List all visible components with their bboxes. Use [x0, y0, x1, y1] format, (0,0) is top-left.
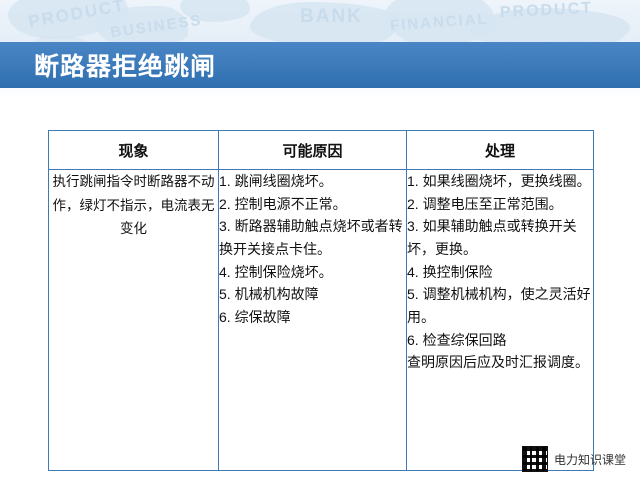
qr-code-icon — [522, 446, 548, 472]
watermark-text: BANK — [300, 6, 363, 28]
list-item: 3. 断路器辅助触点烧坏或者转换开关接点卡住。 — [219, 215, 406, 260]
list-item: 2. 调整电压至正常范围。 — [407, 193, 593, 216]
page-title: 断路器拒绝跳闸 — [34, 47, 216, 83]
table-header-phenomenon: 现象 — [49, 131, 219, 170]
table-row: 执行跳闸指令时断路器不动作，绿灯不指示，电流表无变化 1. 跳闸线圈烧坏。 2.… — [49, 170, 594, 471]
table-header-actions: 处理 — [407, 131, 594, 170]
list-item: 6. 检查综保回路 — [407, 329, 593, 352]
list-item: 查明原因后应及时汇报调度。 — [407, 351, 593, 374]
list-item: 4. 控制保险烧坏。 — [219, 261, 406, 284]
list-item: 6. 综保故障 — [219, 306, 406, 329]
title-bar: 断路器拒绝跳闸 — [0, 42, 640, 88]
footer: 电力知识课堂 — [522, 446, 626, 472]
fault-table: 现象 可能原因 处理 执行跳闸指令时断路器不动作，绿灯不指示，电流表无变化 1.… — [48, 130, 594, 471]
list-item: 3. 如果辅助触点或转换开关坏，更换。 — [407, 215, 593, 260]
cell-phenomenon: 执行跳闸指令时断路器不动作，绿灯不指示，电流表无变化 — [49, 170, 219, 471]
list-item: 5. 机械机构故障 — [219, 283, 406, 306]
list-item: 5. 调整机械机构，使之灵活好用。 — [407, 283, 593, 328]
footer-label: 电力知识课堂 — [554, 451, 626, 468]
list-item: 1. 跳闸线圈烧坏。 — [219, 170, 406, 193]
slide: PRODUCT BUSINESS BANK FINANCIAL PRODUCT … — [0, 0, 640, 480]
list-item: 1. 如果线圈烧坏，更换线圈。 — [407, 170, 593, 193]
list-item: 2. 控制电源不正常。 — [219, 193, 406, 216]
cell-actions: 1. 如果线圈烧坏，更换线圈。 2. 调整电压至正常范围。 3. 如果辅助触点或… — [407, 170, 594, 471]
list-item: 4. 换控制保险 — [407, 261, 593, 284]
table-header-row: 现象 可能原因 处理 — [49, 131, 594, 170]
table-header-causes: 可能原因 — [219, 131, 407, 170]
content-table-wrapper: 现象 可能原因 处理 执行跳闸指令时断路器不动作，绿灯不指示，电流表无变化 1.… — [48, 130, 593, 471]
cell-causes: 1. 跳闸线圈烧坏。 2. 控制电源不正常。 3. 断路器辅助触点烧坏或者转换开… — [219, 170, 407, 471]
